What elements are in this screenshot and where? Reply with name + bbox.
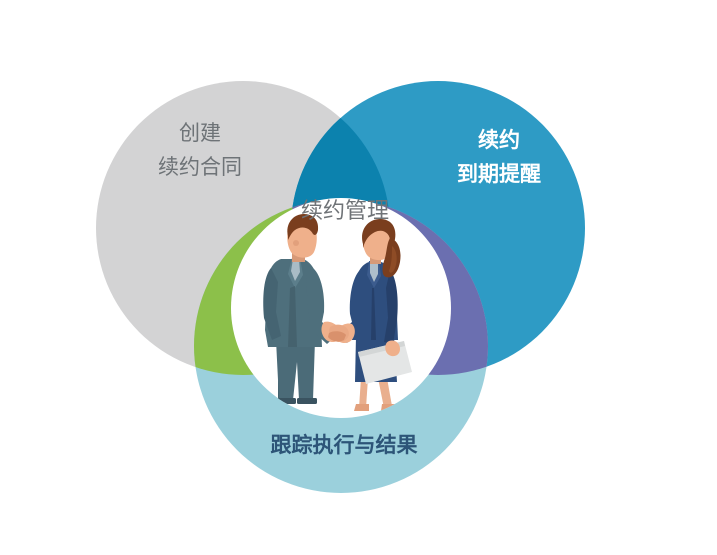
label-track-results: 跟踪执行与结果	[271, 433, 418, 457]
label-create-contract-line2: 续约合同	[158, 156, 242, 179]
venn-diagram-svg: 创建 续约合同 续约 到期提醒 跟踪执行与结果 续约管理	[0, 0, 717, 555]
center-title: 续约管理	[301, 198, 389, 223]
label-create-contract-line1: 创建	[179, 122, 221, 145]
label-expiry-reminder-line2: 到期提醒	[457, 162, 541, 186]
venn-diagram-canvas: 创建 续约合同 续约 到期提醒 跟踪执行与结果 续约管理	[0, 0, 717, 555]
label-expiry-reminder-line1: 续约	[478, 128, 520, 152]
